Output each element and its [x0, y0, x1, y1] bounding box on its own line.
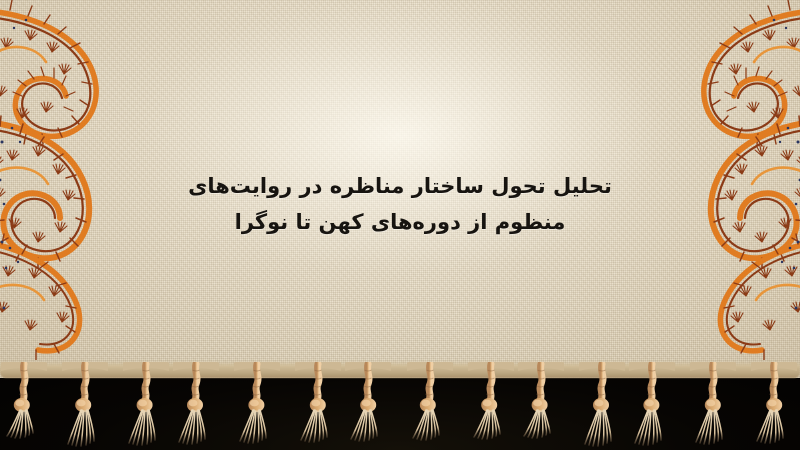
tassel [173, 362, 219, 450]
title-line-2: منظوم از دوره‌های کهن تا نوگرا [0, 204, 800, 240]
tassel [751, 362, 797, 450]
tassel [690, 362, 736, 450]
tassel [62, 362, 108, 450]
tassel [234, 362, 280, 450]
tassel [123, 362, 169, 450]
tassel [518, 362, 564, 450]
tassel [407, 362, 453, 450]
slide-canvas: تحلیل تحول ساختار مناظره در روایت‌های من… [0, 0, 800, 450]
tassel [579, 362, 625, 450]
knotted-tassel-fringe [0, 362, 800, 450]
tassel [1, 362, 47, 450]
tassel [345, 362, 391, 450]
tassel [295, 362, 341, 450]
slide-title: تحلیل تحول ساختار مناظره در روایت‌های من… [0, 168, 800, 240]
title-line-1: تحلیل تحول ساختار مناظره در روایت‌های [0, 168, 800, 204]
tassel [629, 362, 675, 450]
tassel [468, 362, 514, 450]
